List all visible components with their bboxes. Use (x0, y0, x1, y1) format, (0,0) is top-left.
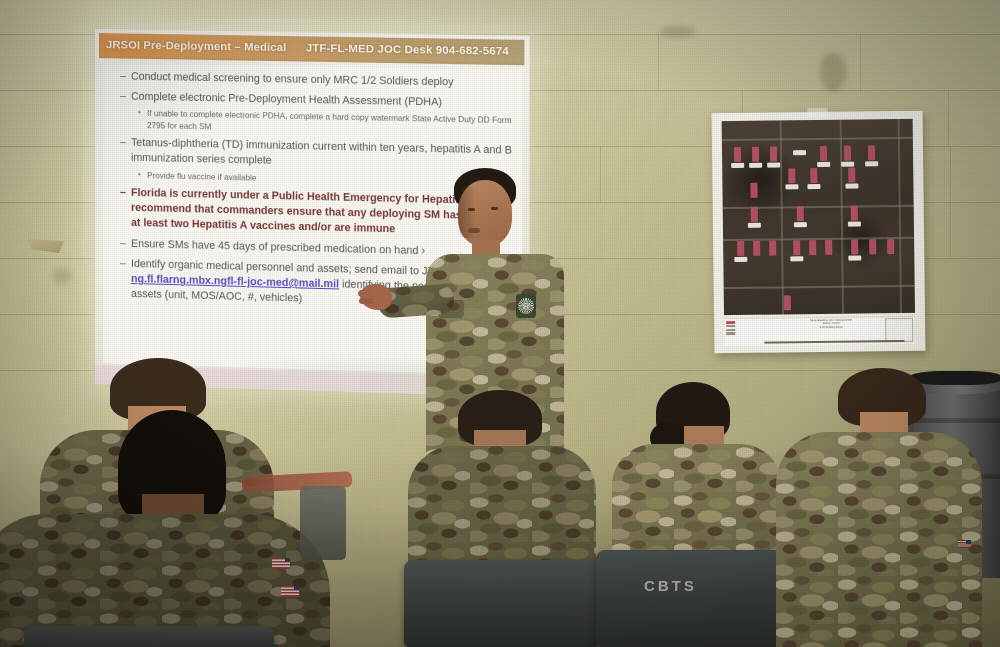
map-label (731, 163, 744, 168)
wall-stain (660, 26, 696, 38)
folding-chair: CBTS (596, 550, 782, 647)
map-label (845, 184, 858, 189)
map-building (820, 146, 827, 161)
map-building (810, 168, 817, 183)
map-road (780, 120, 784, 314)
speaker-eye (468, 208, 475, 211)
map-road (898, 119, 902, 313)
caption-line-3: 6700 Building Block (776, 325, 886, 330)
poster-caption-text: Camp Blanding Joint Training Center Star… (776, 318, 886, 330)
map-label (865, 161, 878, 166)
map-building (788, 168, 795, 183)
speaker-finger (359, 298, 373, 304)
wall-mortar-line (950, 146, 951, 258)
map-road (722, 137, 913, 141)
seated-soldier-front-left-2 (0, 410, 330, 647)
us-flag-patch-icon (272, 558, 290, 569)
wall-stain (820, 52, 846, 92)
us-flag-patch-icon (281, 586, 299, 597)
slide-bullet: Complete electronic Pre-Deployment Healt… (121, 90, 512, 139)
map-scale-bar (764, 340, 904, 344)
map-building (797, 206, 804, 221)
map-building (848, 168, 855, 183)
wall-poster: Camp Blanding Joint Training Center Star… (712, 111, 926, 354)
map-building (851, 240, 858, 255)
poster-caption-block: Camp Blanding Joint Training Center Star… (724, 316, 915, 346)
map-label (748, 223, 761, 228)
map-label (749, 163, 762, 168)
map-building (851, 206, 858, 221)
speaker-eye (491, 207, 498, 210)
slide-title-right: JTF-FL-MED JOC Desk 904-682-5674 (306, 42, 509, 57)
photo-scene: JRSOI Pre-Deployment – Medical JTF-FL-ME… (0, 0, 1000, 647)
slide-subbullet: If unable to complete electronic PDHA, c… (147, 108, 512, 138)
folding-chair (404, 560, 600, 647)
bullet-text: Conduct medical screening to ensure only… (131, 71, 454, 89)
us-flag-patch-icon (958, 540, 971, 548)
map-inset-locator (885, 318, 913, 342)
map-building (868, 145, 875, 160)
wall-mortar-line (948, 90, 949, 146)
chair-stencil-label: CBTS (644, 578, 697, 595)
seated-soldier-center (404, 390, 600, 647)
map-building (844, 146, 851, 161)
map-legend (726, 320, 760, 342)
map-building (769, 241, 776, 256)
map-building (753, 241, 760, 256)
slide-title-left: JRSOI Pre-Deployment – Medical (106, 39, 286, 54)
map-building (809, 240, 816, 255)
slide-title: JRSOI Pre-Deployment – Medical JTF-FL-ME… (99, 39, 509, 58)
map-building (887, 239, 894, 254)
wall-mortar-line (600, 146, 601, 202)
map-label (734, 257, 747, 262)
map-building (793, 240, 800, 255)
wall-mortar-line (860, 34, 861, 90)
map-label (794, 222, 807, 227)
wall-mortar-line (658, 34, 659, 90)
map-label (841, 162, 854, 167)
map-building (825, 240, 832, 255)
map-label (785, 184, 798, 189)
map-road (724, 285, 915, 289)
map-label (817, 162, 830, 167)
seated-soldier-right-1: CBTS (606, 378, 786, 647)
map-building (750, 183, 757, 198)
map-label (793, 150, 806, 155)
seated-soldier-right-2 (782, 368, 982, 647)
speaker-pointing-hand (360, 284, 392, 310)
map-building (869, 239, 876, 254)
equipment-bag (300, 486, 346, 560)
map-label (807, 184, 820, 189)
slide-subbullet-list: If unable to complete electronic PDHA, c… (131, 108, 512, 138)
speaker-finger (358, 290, 374, 297)
map-label (848, 221, 861, 226)
unit-shoulder-patch-icon (516, 294, 536, 318)
aerial-map-image (722, 119, 915, 315)
map-building (737, 241, 744, 256)
poster-tape (807, 108, 827, 117)
map-label (848, 255, 861, 260)
map-label (767, 162, 780, 167)
soldier-uniform-torso (776, 432, 982, 647)
folding-chair (24, 626, 274, 647)
map-building (770, 147, 777, 162)
slide-bullet: Conduct medical screening to ensure only… (121, 69, 512, 91)
bullet-text: Complete electronic Pre-Deployment Healt… (131, 91, 442, 109)
map-road (723, 237, 914, 241)
speaker-mouth (468, 228, 480, 233)
map-label (790, 256, 803, 261)
map-building (752, 147, 759, 162)
bullet-text: Ensure SMs have 45 days of prescribed me… (131, 238, 425, 257)
map-building (751, 207, 758, 222)
bullet-text: Tetanus-diphtheria (TD) immunization cur… (131, 137, 512, 167)
map-building (734, 147, 741, 162)
map-building (784, 295, 791, 310)
